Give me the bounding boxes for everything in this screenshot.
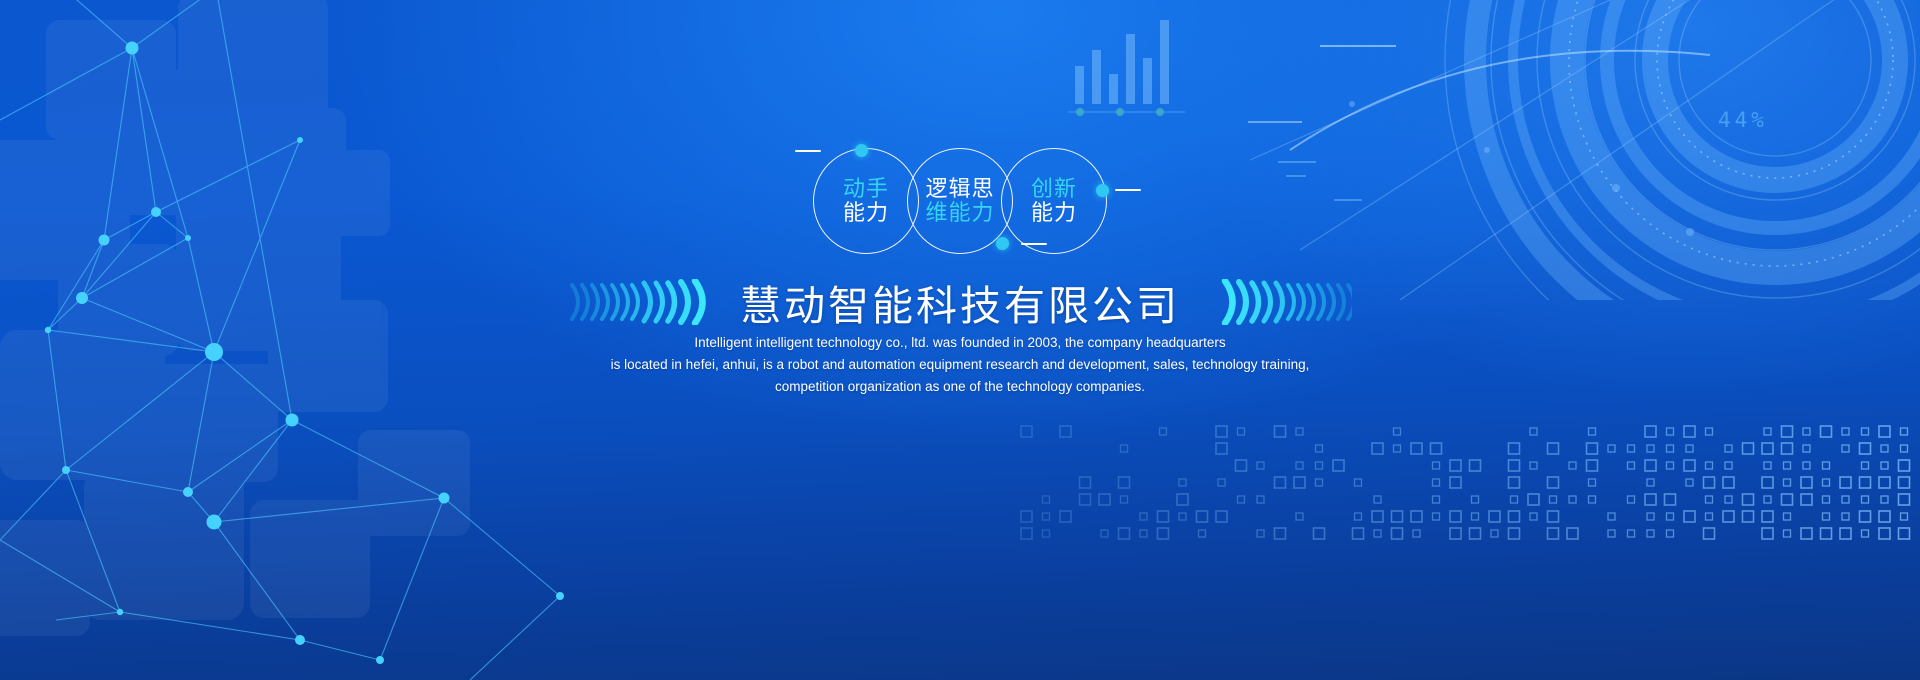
- description-line-3: competition organization as one of the t…: [0, 376, 1920, 398]
- hero-banner: 44% 动手 能力 逻辑思 维能力 创新 能力: [0, 0, 1920, 680]
- percent-indicator: 44%: [1718, 108, 1768, 132]
- capability-1-line1: 动手: [843, 177, 889, 201]
- decor-tick-icon: [795, 150, 821, 152]
- decor-dot-icon: [1096, 184, 1109, 197]
- capability-1-line2: 能力: [843, 201, 889, 225]
- description-line-1: Intelligent intelligent technology co., …: [0, 332, 1920, 354]
- capability-circle-1[interactable]: 动手 能力: [813, 148, 919, 254]
- decor-tick-icon: [1115, 189, 1141, 191]
- capability-3-line1: 创新: [1031, 177, 1077, 201]
- company-title-row: 慧动智能科技有限公司: [0, 272, 1920, 332]
- capability-3-line2: 能力: [1031, 201, 1077, 225]
- company-title: 慧动智能科技有限公司: [740, 272, 1180, 332]
- capability-2-line2: 维能力: [925, 201, 994, 225]
- decor-dot-icon: [855, 144, 868, 157]
- chevron-stack-left-icon: [568, 279, 718, 325]
- capability-circle-2[interactable]: 逻辑思 维能力: [907, 148, 1013, 254]
- capability-circle-group: 动手 能力 逻辑思 维能力 创新 能力: [0, 148, 1920, 254]
- square-dot-grid-graphic: [1020, 425, 1920, 550]
- chevron-stack-right-icon: [1202, 279, 1352, 325]
- mini-bar-chart-graphic: [1068, 20, 1185, 116]
- capability-2-line1: 逻辑思: [925, 177, 994, 201]
- capability-circle-3[interactable]: 创新 能力: [1001, 148, 1107, 254]
- description-line-2: is located in hefei, anhui, is a robot a…: [0, 354, 1920, 376]
- company-description: Intelligent intelligent technology co., …: [0, 332, 1920, 398]
